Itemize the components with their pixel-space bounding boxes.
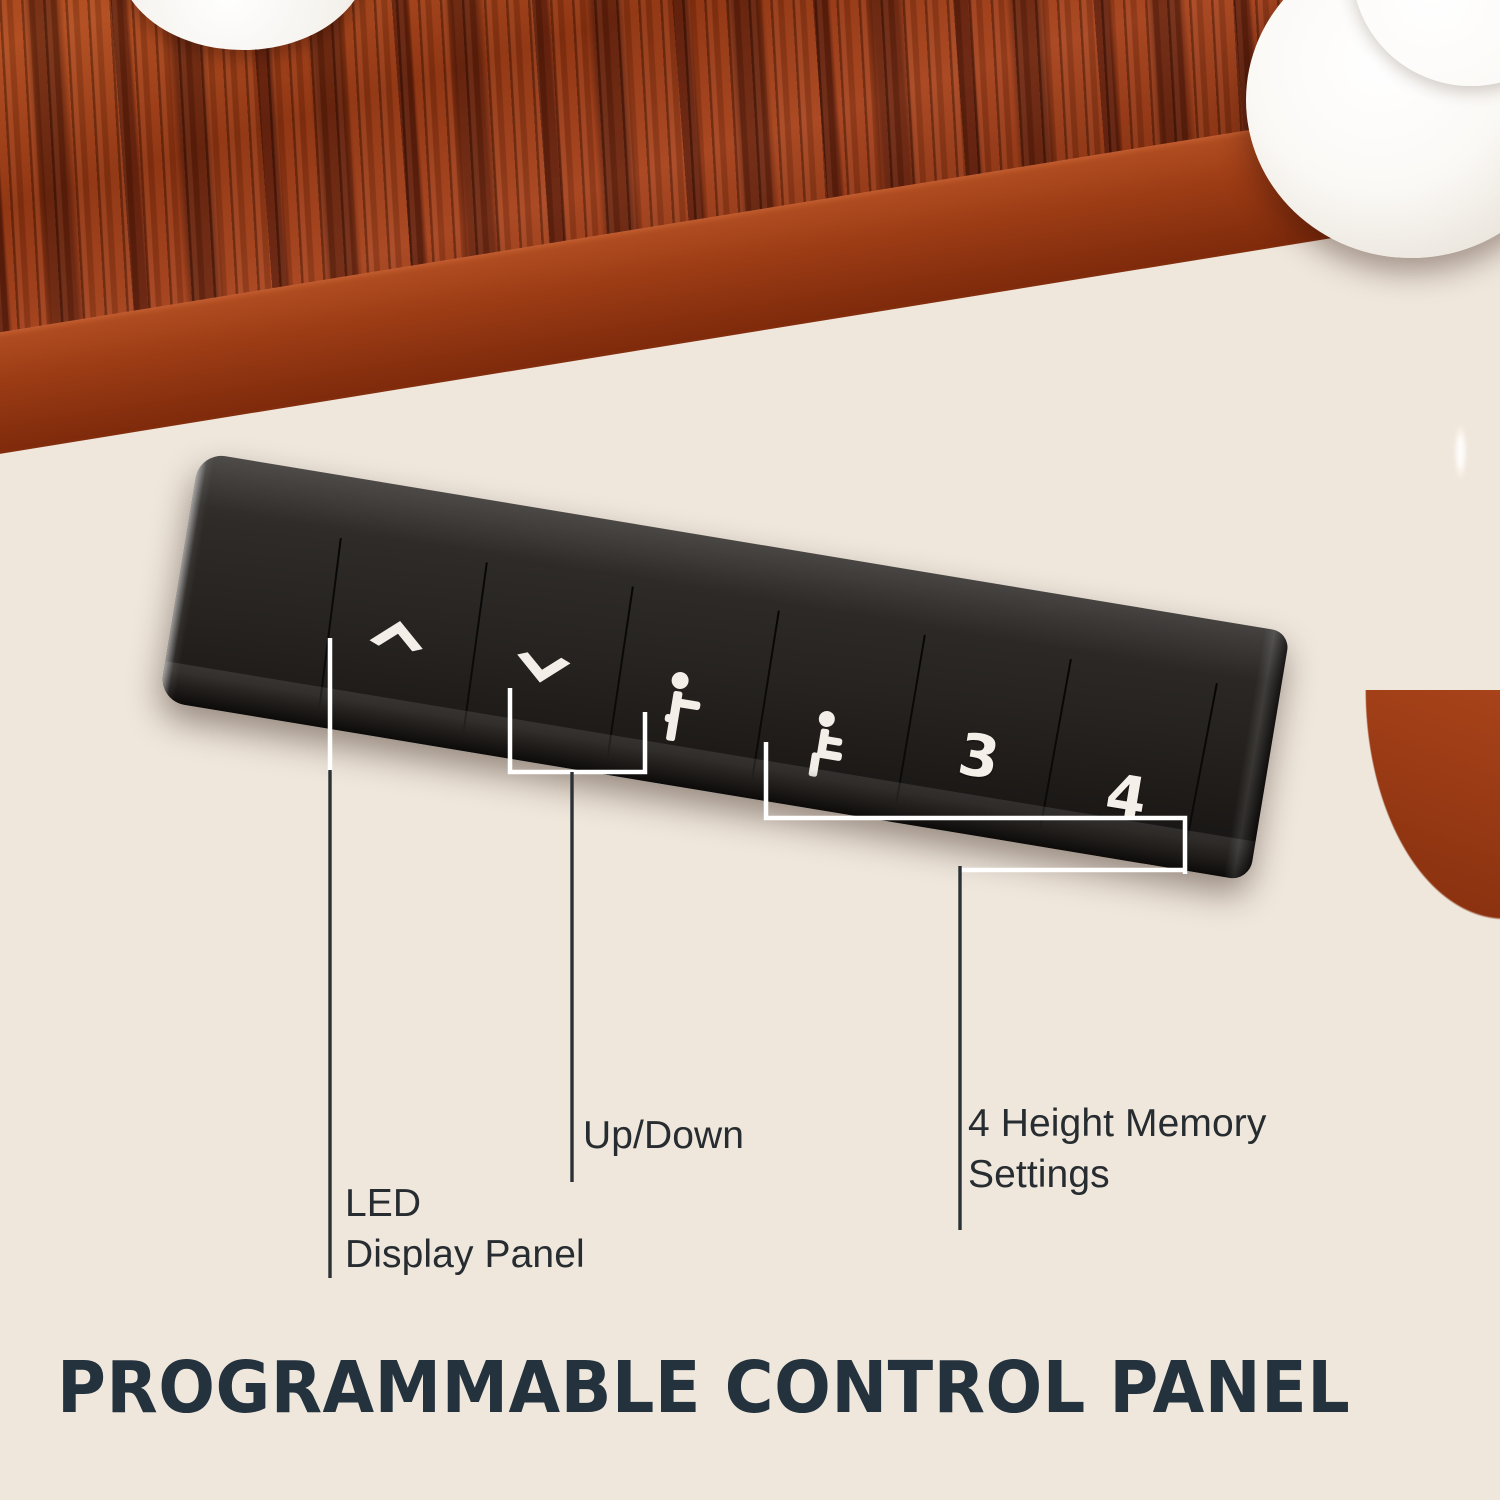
- headline: PROGRAMMABLE CONTROL PANEL: [57, 1346, 1350, 1429]
- standing-person-icon: [652, 669, 712, 752]
- chevron-up-icon: [365, 610, 432, 654]
- callout-label-memory: 4 Height Memory Settings: [968, 1098, 1388, 1201]
- callout-label-updown: Up/Down: [583, 1110, 744, 1161]
- desk-specular-highlight: [1455, 425, 1466, 479]
- product-feature-image: 3 4 LED Display Panel Up/Down 4 Height M…: [0, 0, 1500, 1500]
- callout-label-led: LED Display Panel: [345, 1178, 585, 1281]
- chevron-down-icon: [508, 650, 575, 694]
- numeral-3: 3: [954, 724, 1003, 788]
- desk-right-corner: [1255, 690, 1500, 970]
